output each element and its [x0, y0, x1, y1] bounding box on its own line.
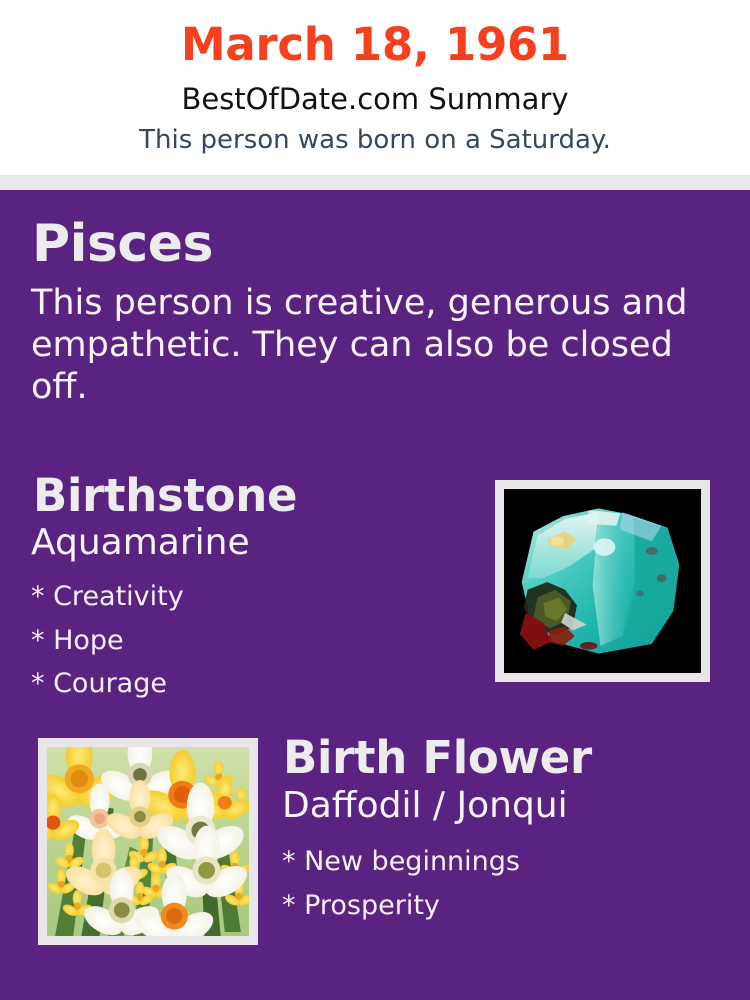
birth-flower-image-frame: [38, 738, 258, 945]
zodiac-description: This person is creative, generous and em…: [31, 282, 707, 408]
list-item: * Courage: [31, 662, 451, 706]
list-item: * Hope: [31, 619, 451, 663]
birthstone-image-frame: [495, 480, 710, 682]
header-divider: [0, 175, 750, 190]
aquamarine-crystal-icon: [504, 489, 701, 673]
birthstone-image: [504, 489, 701, 673]
list-item: * Creativity: [31, 575, 451, 619]
zodiac-sign-name: Pisces: [32, 218, 213, 270]
list-item: * Prosperity: [282, 884, 722, 928]
birthstone-name: Aquamarine: [31, 525, 250, 561]
details-panel: Pisces This person is creative, generous…: [0, 190, 750, 1000]
summary-card: March 18, 1961 BestOfDate.com Summary Th…: [0, 0, 750, 1000]
page-title-date: March 18, 1961: [0, 22, 750, 67]
list-item: * New beginnings: [282, 840, 722, 884]
birth-flower-heading: Birth Flower: [283, 735, 592, 780]
birthstone-heading: Birthstone: [33, 473, 297, 518]
birthstone-traits-list: * Creativity * Hope * Courage: [31, 575, 451, 706]
header: March 18, 1961 BestOfDate.com Summary Th…: [0, 0, 750, 175]
birth-flower-traits-list: * New beginnings * Prosperity: [282, 840, 722, 927]
weekday-statement: This person was born on a Saturday.: [0, 127, 750, 153]
site-name: BestOfDate.com Summary: [0, 85, 750, 114]
birth-flower-name: Daffodil / Jonqui: [282, 788, 568, 824]
birth-flower-image: [47, 747, 249, 936]
daffodil-flowers-icon: [47, 747, 249, 936]
